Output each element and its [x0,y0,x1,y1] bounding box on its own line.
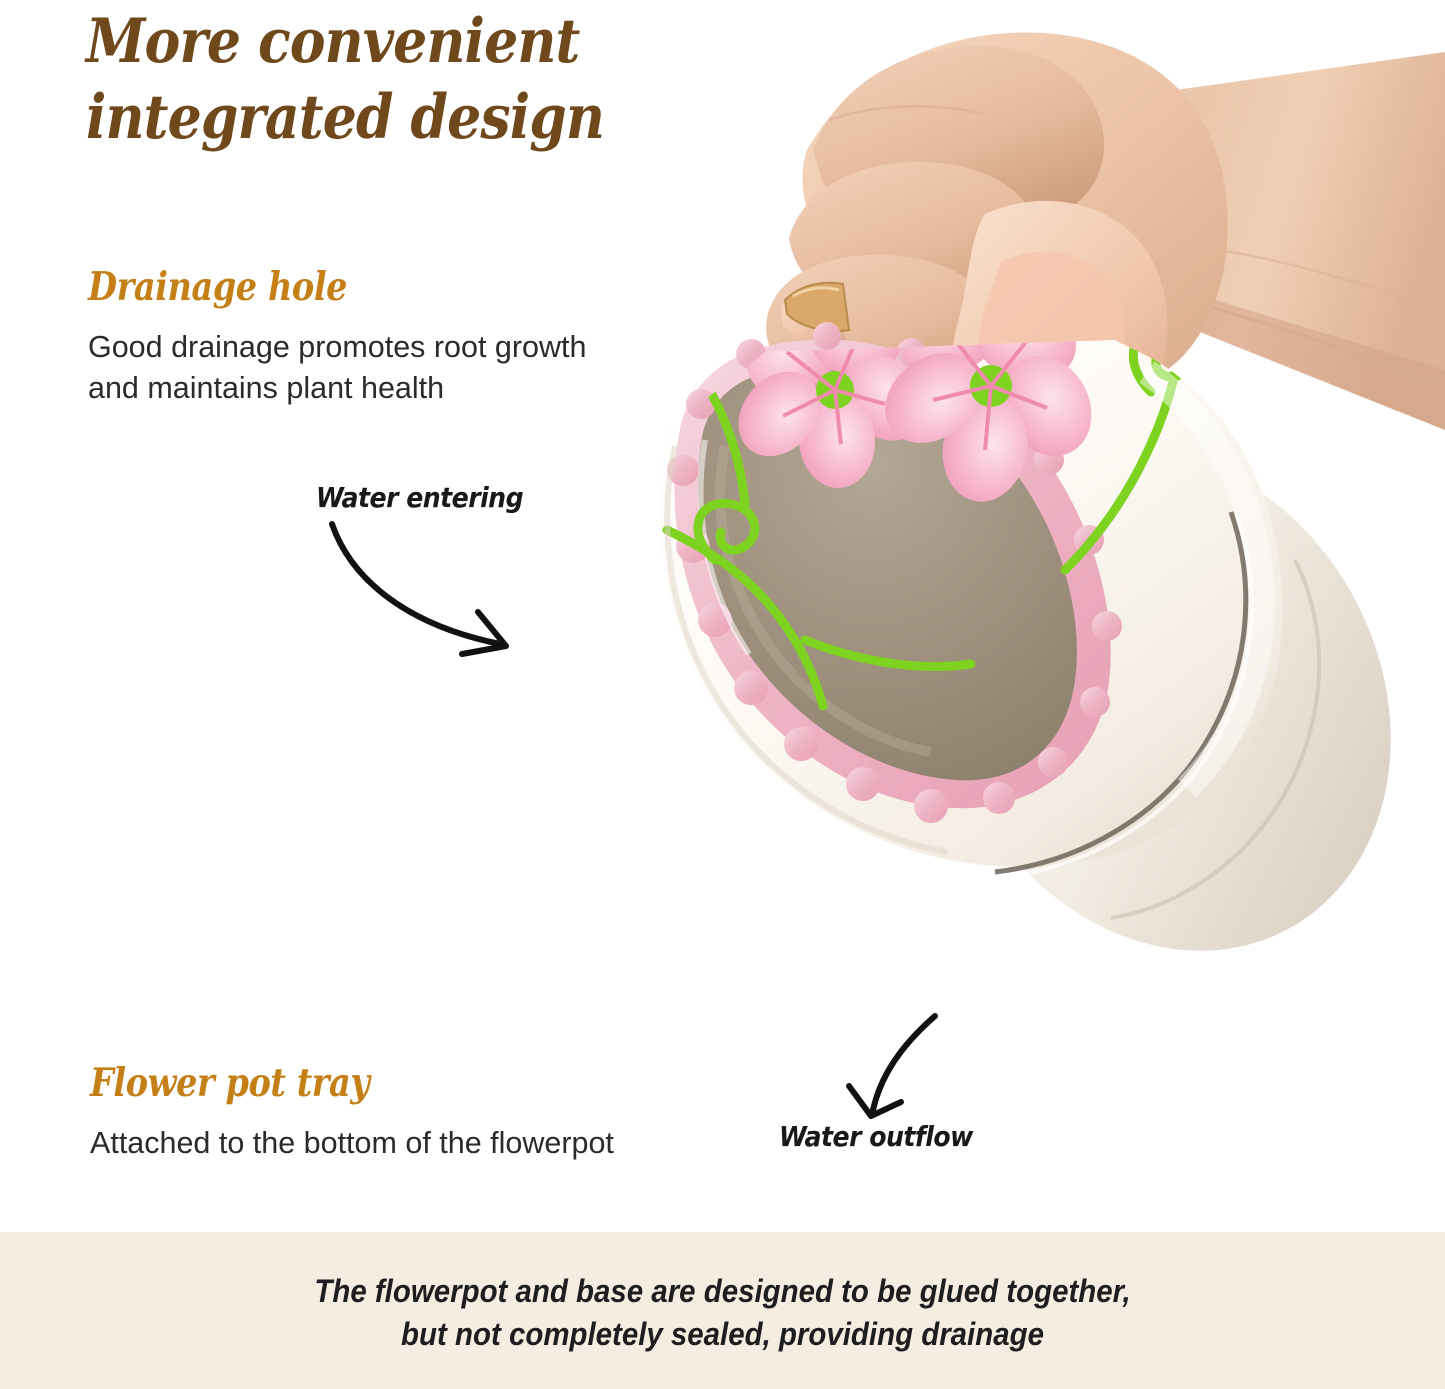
rim-scallop [1038,747,1068,777]
section-heading-drainage-hole: Drainage hole [88,264,347,310]
arrow-water-entering [330,520,560,660]
footer-caption: The flowerpot and base are designed to b… [58,1270,1387,1356]
rim-scallop [784,727,818,761]
rim-scallop [983,782,1015,814]
callout-label-water-entering: Water entering [316,481,523,514]
section-heading-flower-pot-tray: Flower pot tray [90,1060,369,1106]
product-photo [555,0,1445,1050]
rim-scallop [1080,687,1110,717]
rim-scallop [813,322,841,350]
rim-scallop [734,671,768,705]
arrow-water-outflow [845,1012,985,1132]
rim-scallop [846,767,880,801]
infographic-page: More convenient integrated design Draina… [0,0,1445,1389]
vine-curl-left-a [661,262,724,328]
rim-scallop [1092,611,1122,641]
rim-scallop [914,789,948,823]
page-title: More convenient integrated design [86,4,755,155]
section-body-drainage-hole: Good drainage promotes root growth and m… [88,327,728,408]
section-body-flower-pot-tray: Attached to the bottom of the flowerpot [90,1123,770,1164]
script-swirl-left [703,217,771,284]
